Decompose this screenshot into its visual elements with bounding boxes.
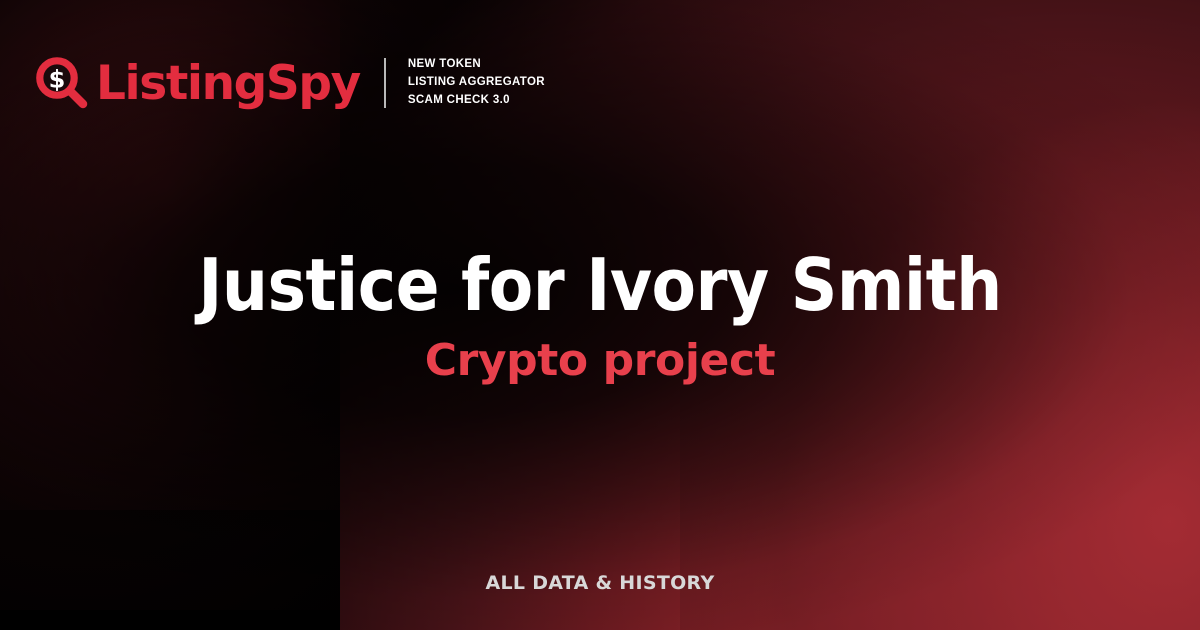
brand-wordmark: ListingSpy bbox=[96, 60, 360, 107]
tagline-line-3: SCAM CHECK 3.0 bbox=[408, 92, 545, 110]
footer-label: ALL DATA & HISTORY bbox=[485, 572, 714, 594]
brand-divider bbox=[384, 58, 386, 108]
brand-tagline: NEW TOKEN LISTING AGGREGATOR SCAM CHECK … bbox=[408, 56, 545, 110]
page-title: Justice for Ivory Smith bbox=[0, 248, 1200, 323]
tagline-line-1: NEW TOKEN bbox=[408, 56, 545, 74]
tagline-line-2: LISTING AGGREGATOR bbox=[408, 74, 545, 92]
svg-text:$: $ bbox=[49, 66, 66, 94]
brand-lockup[interactable]: $ ListingSpy NEW TOKEN LISTING AGGREGATO… bbox=[36, 56, 545, 110]
hero-block: Justice for Ivory Smith Crypto project bbox=[0, 248, 1200, 385]
page-subtitle: Crypto project bbox=[0, 337, 1200, 385]
footer-block: ALL DATA & HISTORY bbox=[0, 572, 1200, 594]
background-glow-right-upper bbox=[820, 0, 1200, 460]
magnifier-dollar-icon: $ bbox=[36, 57, 88, 109]
social-share-card: $ ListingSpy NEW TOKEN LISTING AGGREGATO… bbox=[0, 0, 1200, 630]
